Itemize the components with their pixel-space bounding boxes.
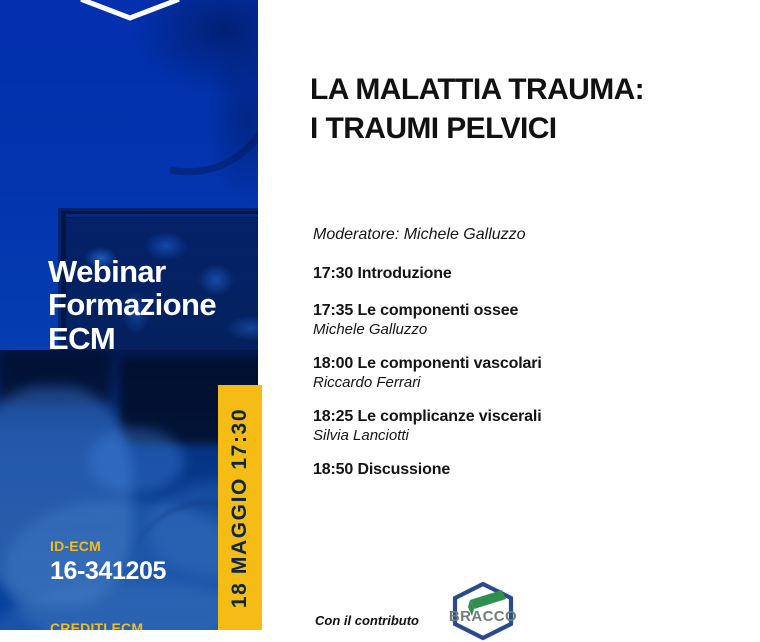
page-title-line-2: I TRAUMI PELVICI [310,109,644,148]
session-speaker: Riccardo Ferrari [313,374,713,391]
contribution-label: Con il contributo [315,613,419,628]
session-title: 18:00 Le componenti vascolari [313,355,713,373]
session-speaker: Silvia Lanciotti [313,427,713,444]
date-ribbon-text: 18 MAGGIO 17:30 [228,407,252,607]
session-speaker: Michele Galluzzo [313,321,713,338]
hexagon-shield-icon [73,0,187,22]
webinar-heading-line-1: Webinar [48,255,216,288]
moderator-line: Moderatore: Michele Galluzzo [313,226,713,244]
session-title: 17:35 Le componenti ossee [313,302,713,320]
webinar-heading-line-2: Formazione [48,288,216,321]
session-item: 17:30 Introduzione [313,265,713,283]
bracco-wordmark: BRACCO [449,608,517,625]
crediti-ecm-label: CREDITI ECM [50,620,143,630]
program-schedule: Moderatore: Michele Galluzzo 17:30 Intro… [313,226,713,498]
page-title-line-1: LA MALATTIA TRAUMA: [310,70,644,109]
session-item: 18:50 Discussione [313,461,713,479]
webinar-heading-line-3: ECM [48,322,216,355]
session-title: 18:50 Discussione [313,461,713,479]
session-title: 17:30 Introduzione [313,265,713,283]
session-item: 17:35 Le componenti ossee Michele Galluz… [313,302,713,338]
webinar-poster: Webinar Formazione ECM ID-ECM 16-341205 … [0,0,760,630]
session-item: 18:25 Le complicanze viscerali Silvia La… [313,408,713,444]
id-ecm-label: ID-ECM [50,538,166,554]
date-ribbon: 18 MAGGIO 17:30 [218,385,262,630]
session-title: 18:25 Le complicanze viscerali [313,408,713,426]
bracco-hexagon-logo: BRACCO [446,580,520,642]
id-ecm-block: ID-ECM 16-341205 [50,538,166,586]
content-area: LA MALATTIA TRAUMA: I TRAUMI PELVICI Mod… [310,0,740,630]
id-ecm-value: 16-341205 [50,557,166,586]
webinar-heading: Webinar Formazione ECM [48,255,216,355]
page-title: LA MALATTIA TRAUMA: I TRAUMI PELVICI [310,70,644,148]
session-item: 18:00 Le componenti vascolari Riccardo F… [313,355,713,391]
